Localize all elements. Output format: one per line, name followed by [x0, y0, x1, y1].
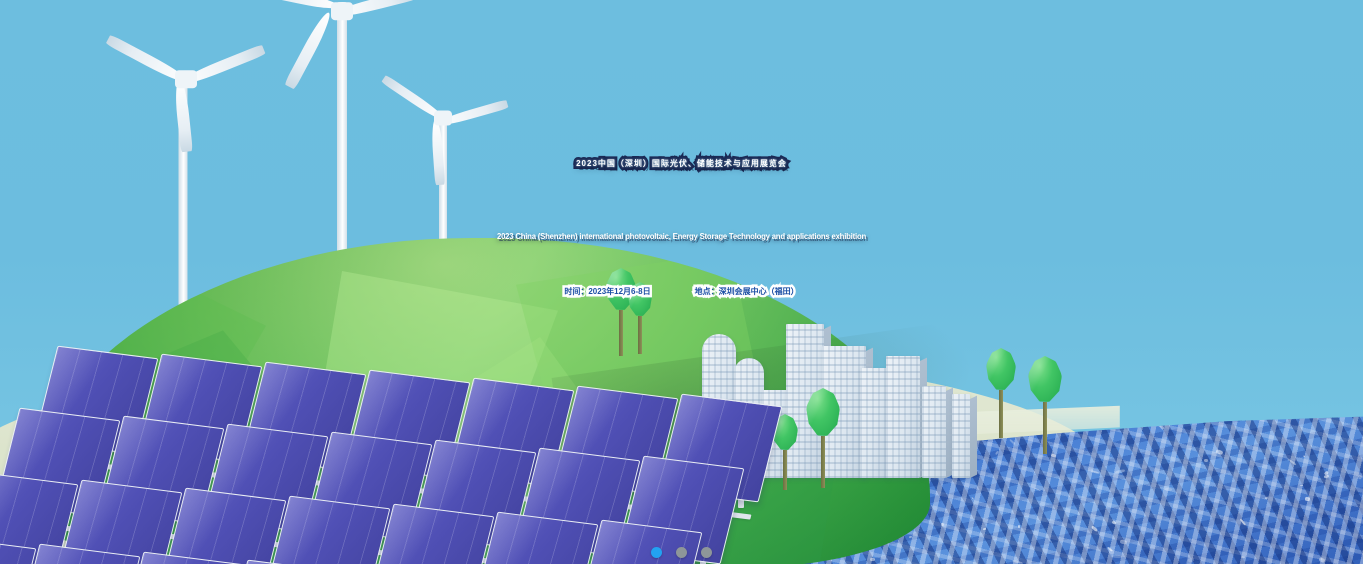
venue-value: 深圳会展中心（福田） — [719, 287, 799, 296]
date-value: 2023年12月6-8日 — [588, 287, 650, 296]
carousel-dot-1[interactable] — [651, 547, 662, 558]
carousel-dot-2[interactable] — [676, 547, 687, 558]
venue-label: 地点： — [695, 287, 719, 296]
carousel-dot-3[interactable] — [701, 547, 712, 558]
headline-title-en: 2023 China (Shenzhen) international phot… — [24, 232, 1339, 241]
carousel-dots[interactable] — [0, 547, 1363, 558]
event-banner: 2023中国（深圳）国际光伏、储能技术与应用展览会 2023 China (Sh… — [0, 0, 1363, 564]
date-label: 时间： — [564, 287, 588, 296]
event-info-line: 时间：2023年12月6-8日地点：深圳会展中心（福田） — [0, 286, 1363, 297]
headline-title-cn: 2023中国（深圳）国际光伏、储能技术与应用展览会 — [0, 158, 1363, 169]
